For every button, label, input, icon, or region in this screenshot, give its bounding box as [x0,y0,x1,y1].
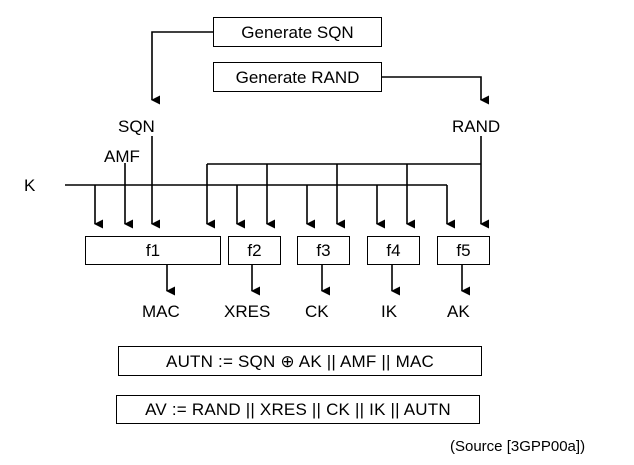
function-box-f2[interactable]: f2 [228,236,281,265]
generate-sqn-box[interactable]: Generate SQN [213,17,382,47]
function-box-f5[interactable]: f5 [437,236,490,265]
generate-sqn-label: Generate SQN [241,24,353,41]
generate-rand-box[interactable]: Generate RAND [213,62,382,92]
source-note: (Source [3GPP00a]) [450,438,585,455]
output-label-ck: CK [305,303,329,320]
function-box-f3[interactable]: f3 [297,236,350,265]
input-label-k: K [24,177,35,194]
formula-box-autn[interactable]: AUTN := SQN ⊕ AK || AMF || MAC [118,346,482,376]
wire-gen-sqn-to-sqn [152,32,213,100]
output-label-mac: MAC [142,303,180,320]
function-label-f4: f4 [386,242,400,259]
input-label-sqn: SQN [118,118,155,135]
function-box-f1[interactable]: f1 [85,236,221,265]
output-label-ak: AK [447,303,470,320]
output-label-xres: XRES [224,303,270,320]
function-label-f1: f1 [146,242,160,259]
diagram-canvas: Generate SQN Generate RAND K SQN AMF RAN… [0,0,634,465]
wire-gen-rand-to-rand [382,77,481,100]
formula-label-av: AV := RAND || XRES || CK || IK || AUTN [145,401,451,418]
input-label-amf: AMF [104,148,140,165]
formula-box-av[interactable]: AV := RAND || XRES || CK || IK || AUTN [116,395,480,424]
function-label-f5: f5 [456,242,470,259]
output-label-ik: IK [381,303,397,320]
function-label-f3: f3 [316,242,330,259]
input-label-rand: RAND [452,118,500,135]
function-label-f2: f2 [247,242,261,259]
function-box-f4[interactable]: f4 [367,236,420,265]
formula-label-autn: AUTN := SQN ⊕ AK || AMF || MAC [166,353,434,370]
generate-rand-label: Generate RAND [236,69,360,86]
